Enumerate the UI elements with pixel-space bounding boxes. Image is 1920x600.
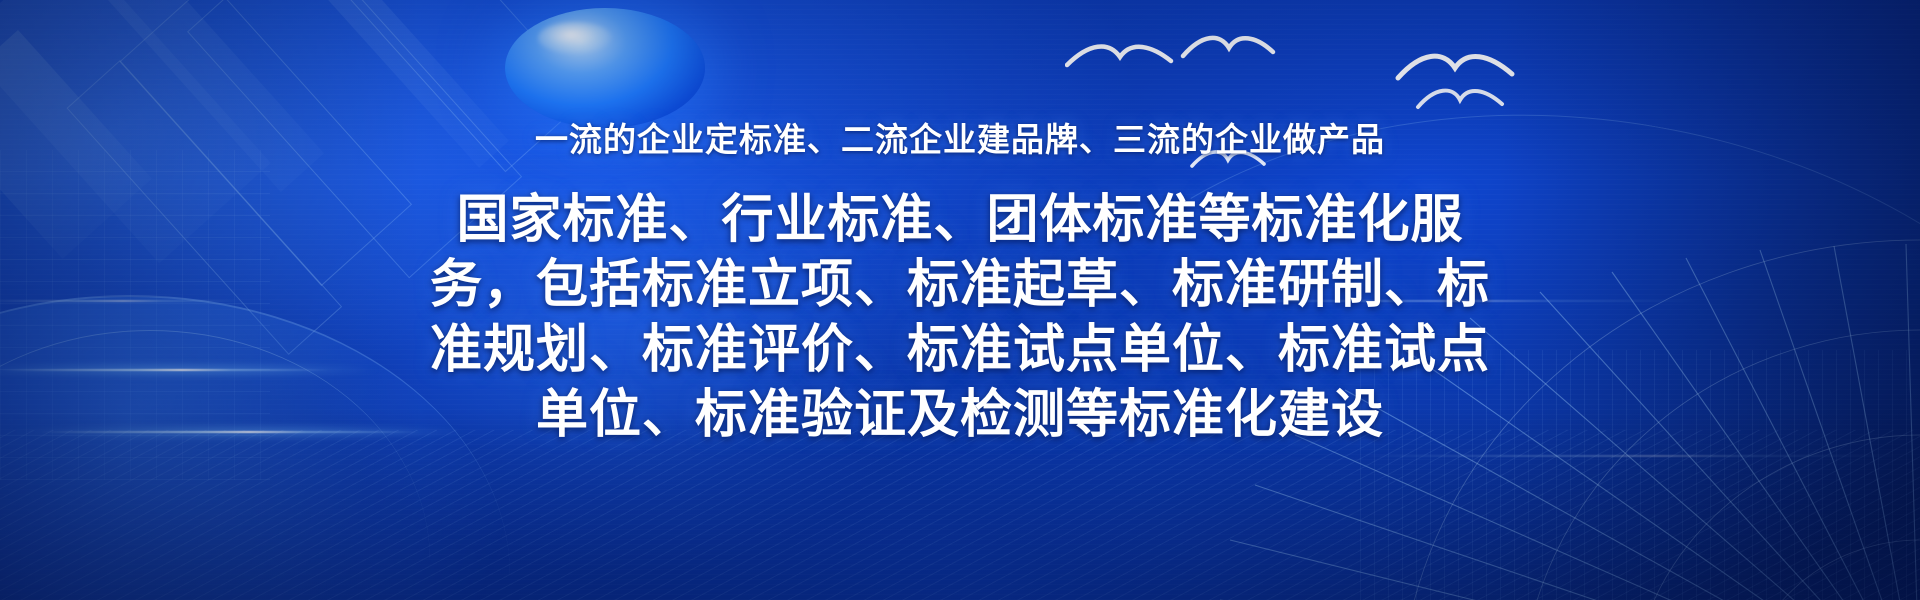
hero-banner: 一流的企业定标准、二流企业建品牌、三流的企业做产品 国家标准、行业标准、团体标准… — [0, 0, 1920, 600]
banner-subhead: 国家标准、行业标准、团体标准等标准化服务，包括标准立项、标准起草、标准研制、标准… — [430, 188, 1490, 448]
banner-content: 一流的企业定标准、二流企业建品牌、三流的企业做产品 国家标准、行业标准、团体标准… — [0, 0, 1920, 600]
banner-headline: 一流的企业定标准、二流企业建品牌、三流的企业做产品 — [535, 113, 1385, 161]
